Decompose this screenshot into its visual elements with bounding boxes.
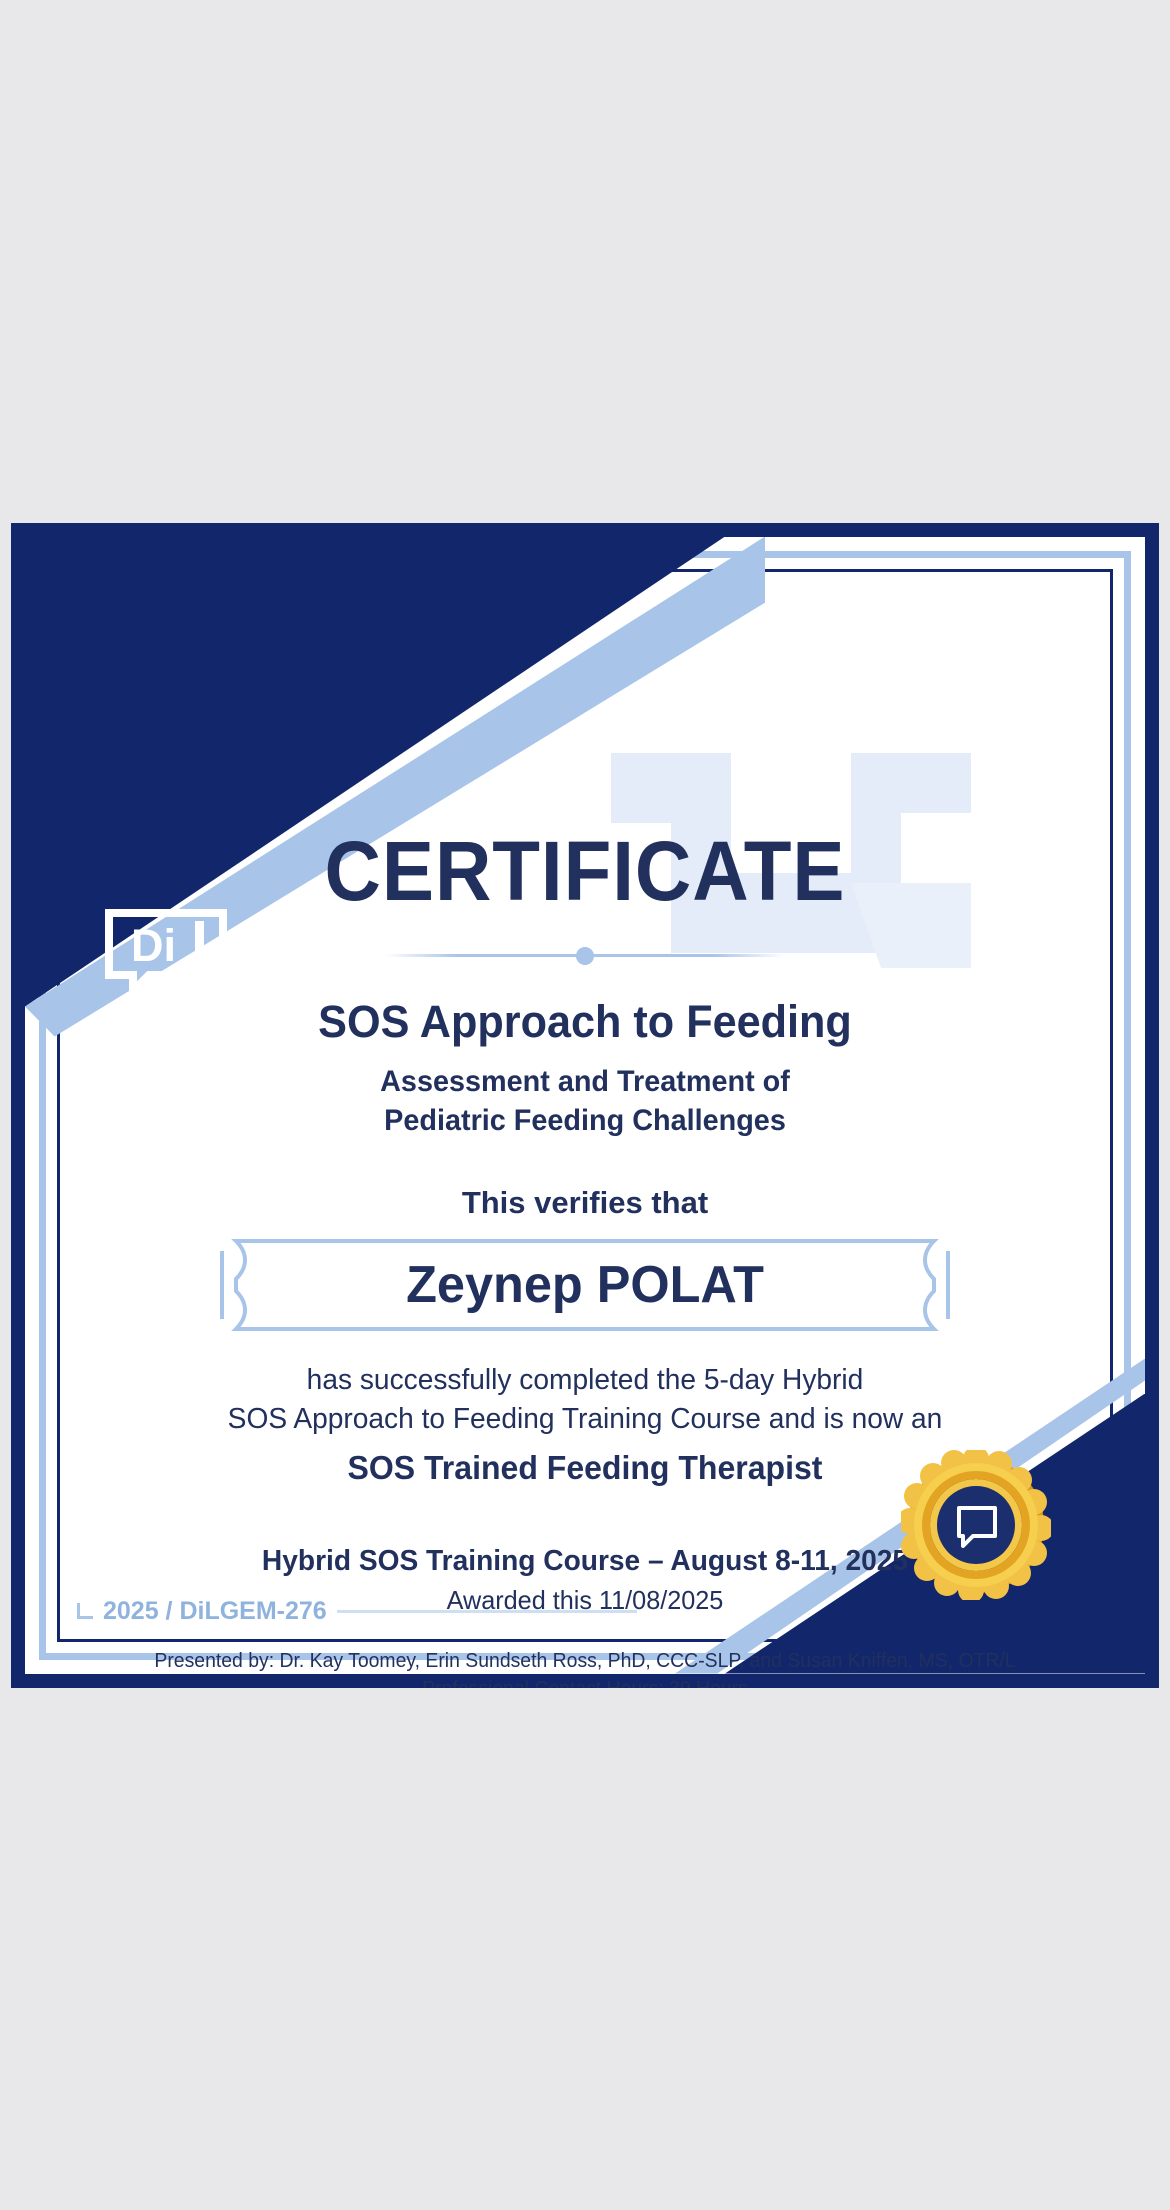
certificate-sheet: Di gem CERTIFICATE SOS Approach to Feedi… [11,523,1159,1688]
recipient-name: Zeynep POLAT [212,1237,959,1333]
certificate-reference: 2025 / DiLGEM-276 [103,1597,327,1626]
footer-rule [337,1610,637,1613]
footer: 2025 / DiLGEM-276 [77,1597,637,1626]
gold-seal [901,1450,1051,1600]
dilgem-logo: Di gem [103,903,355,995]
course-title: SOS Approach to Feeding [34,996,1136,1048]
title-divider [385,946,785,964]
verifies-label: This verifies that [11,1185,1159,1221]
presented-by: Presented by: Dr. Kay Toomey, Erin Sunds… [28,1650,1142,1673]
footer-corner-mark [77,1603,93,1619]
body-line-1: has successfully completed the 5-day Hyb… [28,1361,1142,1400]
seal-scallop-ring [901,1450,1051,1600]
divider-dot [576,947,594,965]
svg-text:gem: gem [215,919,322,977]
recipient-name-plate: Zeynep POLAT [200,1237,970,1333]
course-subtitle: Assessment and Treatment of Pediatric Fe… [34,1062,1136,1142]
body-line-2: SOS Approach to Feeding Training Course … [28,1400,1142,1439]
svg-text:Di: Di [131,920,176,971]
course-subtitle-line-2: Pediatric Feeding Challenges [34,1101,1136,1141]
contact-hours: Professional Contact Hours: 39 Hours [28,1678,1142,1688]
course-subtitle-line-1: Assessment and Treatment of [34,1062,1136,1102]
certificate-body: has successfully completed the 5-day Hyb… [28,1361,1142,1439]
